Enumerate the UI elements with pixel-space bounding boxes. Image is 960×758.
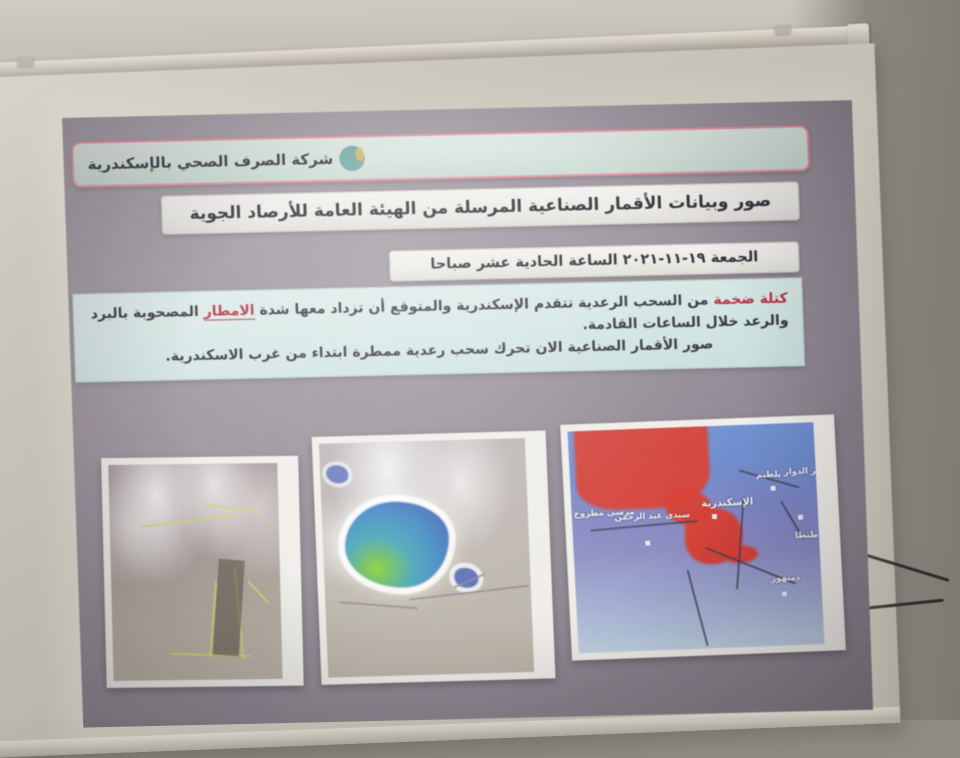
slide-title-text: صور وبيانات الأقمار الصناعية المرسلة من … bbox=[189, 191, 771, 224]
satellite-visible-image[interactable] bbox=[101, 456, 304, 688]
map-label-tanta: طنطا bbox=[795, 530, 818, 541]
satellite-visible-image-canvas bbox=[108, 463, 282, 681]
roller-bracket-right bbox=[775, 25, 791, 35]
company-name-text: شركة الصرف الصحي بالإسكندرية bbox=[87, 150, 333, 174]
satellite-cloudtop-image[interactable] bbox=[312, 430, 556, 684]
projected-slide-area: شركة الصرف الصحي بالإسكندرية صور وبيانات… bbox=[62, 100, 873, 728]
body-highlight-rain: الامطار bbox=[203, 303, 254, 321]
roller-bracket-left bbox=[17, 57, 33, 67]
map-label-damanhour: دمنهور bbox=[771, 573, 800, 584]
map-label-kafr-eldawar: كفر الدوار bbox=[784, 466, 825, 478]
map-dot-baltim bbox=[770, 486, 775, 491]
storm-cell-blob bbox=[343, 500, 450, 589]
map-dot-damanhour bbox=[782, 591, 787, 596]
weather-radar-map-canvas: الإسكندرية سيدى عبد الرحمن بلطيم كفر الد… bbox=[568, 422, 825, 653]
presentation-slide: شركة الصرف الصحي بالإسكندرية صور وبيانات… bbox=[62, 100, 873, 728]
slide-date-text: الجمعة ١٩-١١-٢٠٢١ الساعة الحادية عشر صبا… bbox=[430, 249, 758, 272]
slide-header-banner: شركة الصرف الصحي بالإسكندرية bbox=[71, 125, 810, 188]
map-label-alexandria: الإسكندرية bbox=[701, 497, 753, 510]
satellite-image-strip: الإسكندرية سيدى عبد الرحمن بلطيم كفر الد… bbox=[99, 416, 852, 707]
body-line-1-tail: المصحوبة بالبرد bbox=[90, 304, 204, 323]
map-label-baltim: بلطيم bbox=[756, 469, 782, 480]
weather-radar-map[interactable]: الإسكندرية سيدى عبد الرحمن بلطيم كفر الد… bbox=[560, 414, 846, 660]
slide-title-box: صور وبيانات الأقمار الصناعية المرسلة من … bbox=[161, 181, 800, 234]
map-dot-sidi-abdelrahman bbox=[645, 541, 650, 546]
map-dot-tanta bbox=[798, 515, 803, 520]
storm-cell-offshore bbox=[326, 465, 349, 484]
company-logo bbox=[337, 142, 372, 175]
satellite-cloudtop-image-canvas bbox=[319, 438, 534, 678]
slide-body-box: كتلة ضخمة من السحب الرعدية تتقدم الإسكند… bbox=[72, 277, 805, 383]
body-highlight-mass: كتلة ضخمة bbox=[713, 291, 788, 309]
slide-date-box: الجمعة ١٩-١١-٢٠٢١ الساعة الحادية عشر صبا… bbox=[389, 241, 800, 281]
map-dot-alexandria bbox=[712, 514, 717, 519]
